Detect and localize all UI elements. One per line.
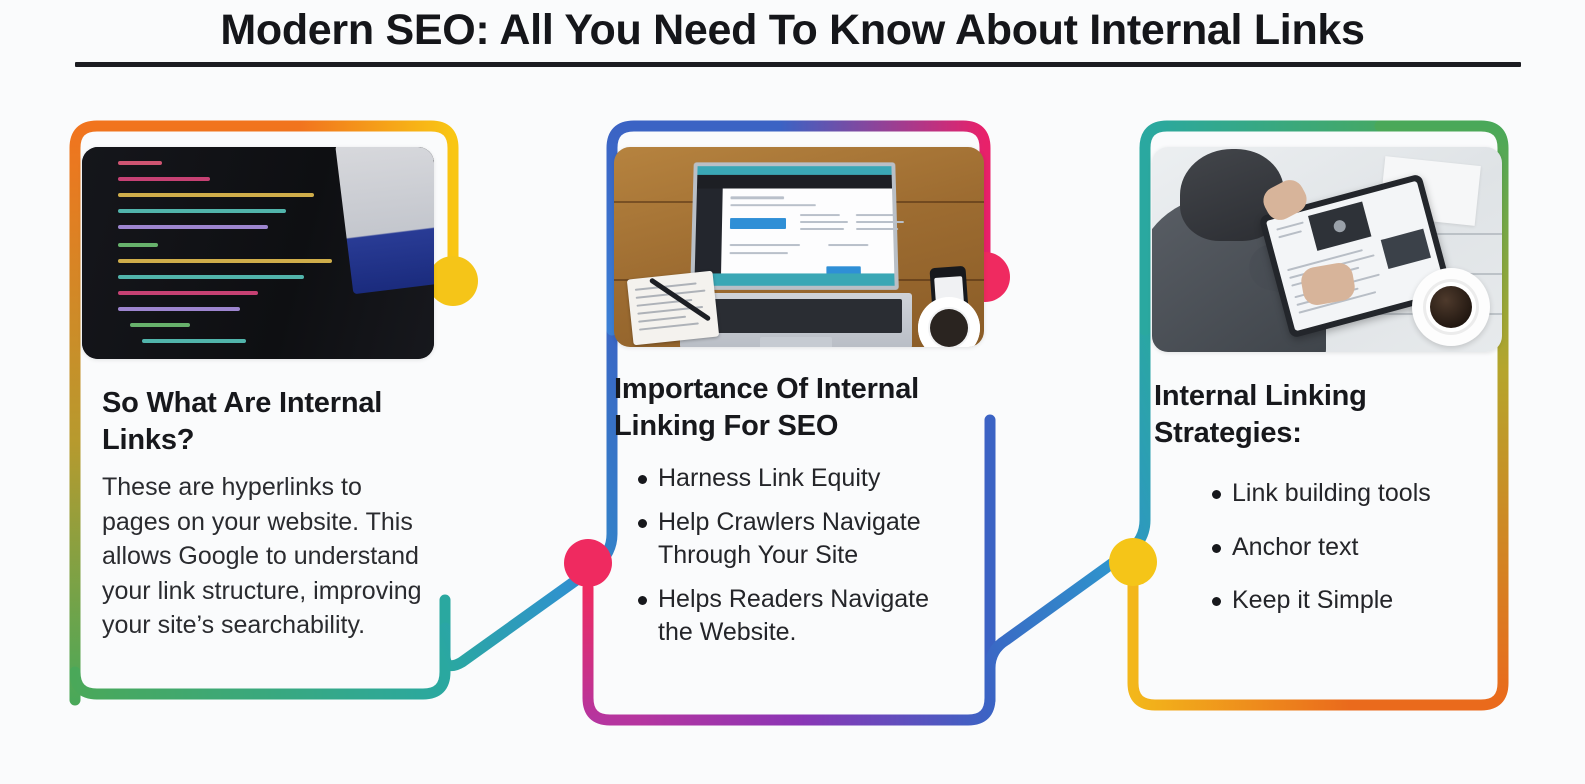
card-internal-links-definition: So What Are Internal Links? These are hy… — [58, 125, 458, 695]
title-underline-rule — [75, 62, 1521, 67]
card3-image-man-using-tablet-photo — [1152, 147, 1502, 352]
list-item: Anchor text — [1210, 531, 1504, 565]
page-title: Modern SEO: All You Need To Know About I… — [0, 6, 1585, 55]
card1-heading: So What Are Internal Links? — [102, 385, 434, 458]
header: Modern SEO: All You Need To Know About I… — [0, 0, 1585, 80]
card2-bullet-list: Harness Link Equity Help Crawlers Naviga… — [636, 462, 966, 650]
infographic-root: Modern SEO: All You Need To Know About I… — [0, 0, 1585, 784]
list-item: Help Crawlers Navigate Through Your Site — [636, 506, 966, 573]
list-item: Helps Readers Navigate the Website. — [636, 583, 966, 650]
list-item: Keep it Simple — [1210, 584, 1504, 618]
card1-paragraph: These are hyperlinks to pages on your we… — [102, 470, 432, 643]
card-internal-linking-strategies: Internal Linking Strategies: Link buildi… — [1128, 125, 1528, 705]
list-item: Link building tools — [1210, 477, 1504, 511]
card2-image-laptop-on-wooden-desk-photo — [614, 147, 984, 347]
card1-image-code-editor-screenshot — [82, 147, 434, 359]
connector-card2-to-card3 — [990, 300, 1145, 700]
connector-card1-to-card2 — [445, 300, 612, 666]
card3-bullet-list: Link building tools Anchor text Keep it … — [1210, 477, 1504, 618]
card3-heading: Internal Linking Strategies: — [1154, 378, 1504, 451]
list-item: Harness Link Equity — [636, 462, 966, 496]
card-importance-of-internal-linking: Importance Of Internal Linking For SEO H… — [590, 125, 990, 720]
card2-heading: Importance Of Internal Linking For SEO — [614, 371, 966, 444]
